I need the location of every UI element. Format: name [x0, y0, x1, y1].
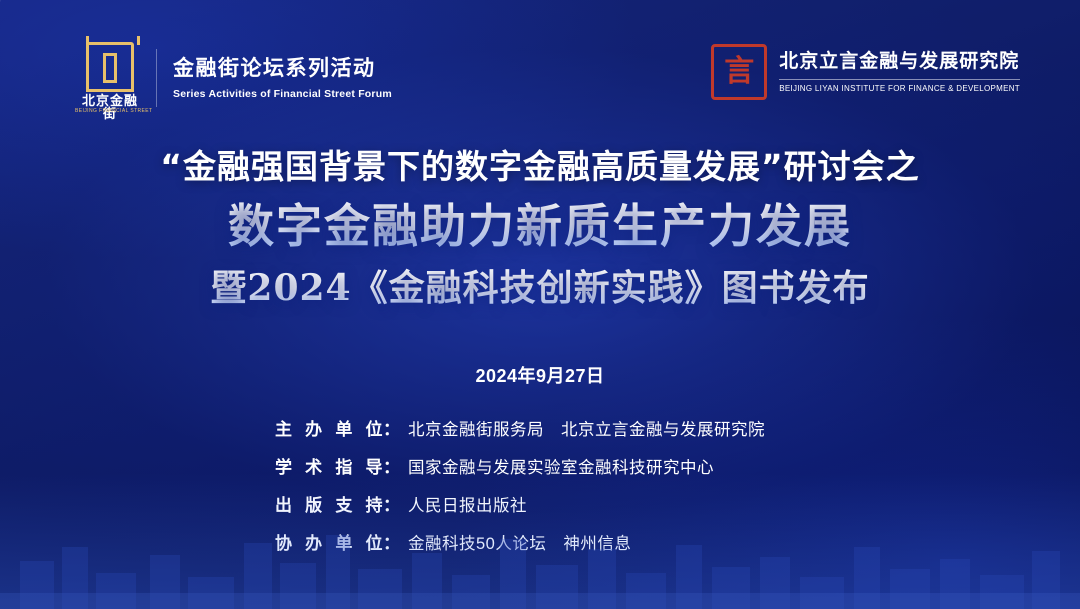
credit-label: 学术指导: [275, 453, 383, 478]
liyan-institute-logo: 言 北京立言金融与发展研究院 BEIJING LIYAN INSTITUTE F…: [711, 44, 1020, 100]
title-line-3-subtitle: 暨2024《金融科技创新实践》图书发布: [0, 266, 1080, 311]
credit-colon: ：: [383, 453, 400, 478]
financial-street-mark-name-cn: 北京金融街: [78, 94, 142, 120]
credit-label: 主办单位: [275, 415, 383, 440]
forum-title-cn: 金融街论坛系列活动: [173, 56, 392, 82]
event-date: 2024年9月27日: [0, 362, 1080, 388]
credit-row: 主办单位 ： 北京金融街服务局 北京立言金融与发展研究院: [275, 415, 805, 440]
credit-row: 出版支持 ： 人民日报出版社: [275, 491, 805, 516]
credit-colon: ：: [383, 415, 400, 440]
liyan-name-en: BEIJING LIYAN INSTITUTE FOR FINANCE & DE…: [779, 79, 1020, 93]
credit-value: 北京金融街服务局 北京立言金融与发展研究院: [408, 416, 765, 440]
beijing-financial-street-seal-icon: 北京金融街 BEIJING FINANCIAL STREET: [78, 42, 142, 114]
forum-title-en: Series Activities of Financial Street Fo…: [173, 88, 392, 100]
title-block: “金融强国背景下的数字金融高质量发展”研讨会之 数字金融助力新质生产力发展 暨2…: [0, 146, 1080, 311]
credits-list: 主办单位 ： 北京金融街服务局 北京立言金融与发展研究院 学术指导 ： 国家金融…: [0, 415, 1080, 554]
credit-value: 国家金融与发展实验室金融科技研究中心: [408, 454, 714, 478]
liyan-seal-icon: 言: [711, 44, 767, 100]
credit-row: 学术指导 ： 国家金融与发展实验室金融科技研究中心: [275, 453, 805, 478]
credit-row: 协办单位 ： 金融科技50人论坛 神州信息: [275, 529, 805, 554]
logo-header: 北京金融街 BEIJING FINANCIAL STREET 金融街论坛系列活动…: [0, 36, 1080, 120]
financial-street-mark-name-en: BEIJING FINANCIAL STREET: [75, 109, 145, 114]
financial-street-logo: 北京金融街 BEIJING FINANCIAL STREET 金融街论坛系列活动…: [78, 42, 392, 114]
credit-value: 人民日报出版社: [408, 492, 527, 516]
poster-canvas: 北京金融街 BEIJING FINANCIAL STREET 金融街论坛系列活动…: [0, 0, 1080, 609]
credit-value: 金融科技50人论坛 神州信息: [408, 530, 631, 554]
liyan-name-group: 北京立言金融与发展研究院 BEIJING LIYAN INSTITUTE FOR…: [779, 44, 1020, 100]
credit-label: 协办单位: [275, 529, 383, 554]
title-line-2-main: 数字金融助力新质生产力发展: [0, 199, 1080, 254]
liyan-seal-glyph: 言: [724, 57, 754, 87]
liyan-name-cn: 北京立言金融与发展研究院: [779, 51, 1020, 74]
forum-title-group: 金融街论坛系列活动 Series Activities of Financial…: [156, 49, 392, 107]
credit-colon: ：: [383, 491, 400, 516]
credit-label: 出版支持: [275, 491, 383, 516]
credit-colon: ：: [383, 529, 400, 554]
title-line-1: “金融强国背景下的数字金融高质量发展”研讨会之: [0, 146, 1080, 187]
